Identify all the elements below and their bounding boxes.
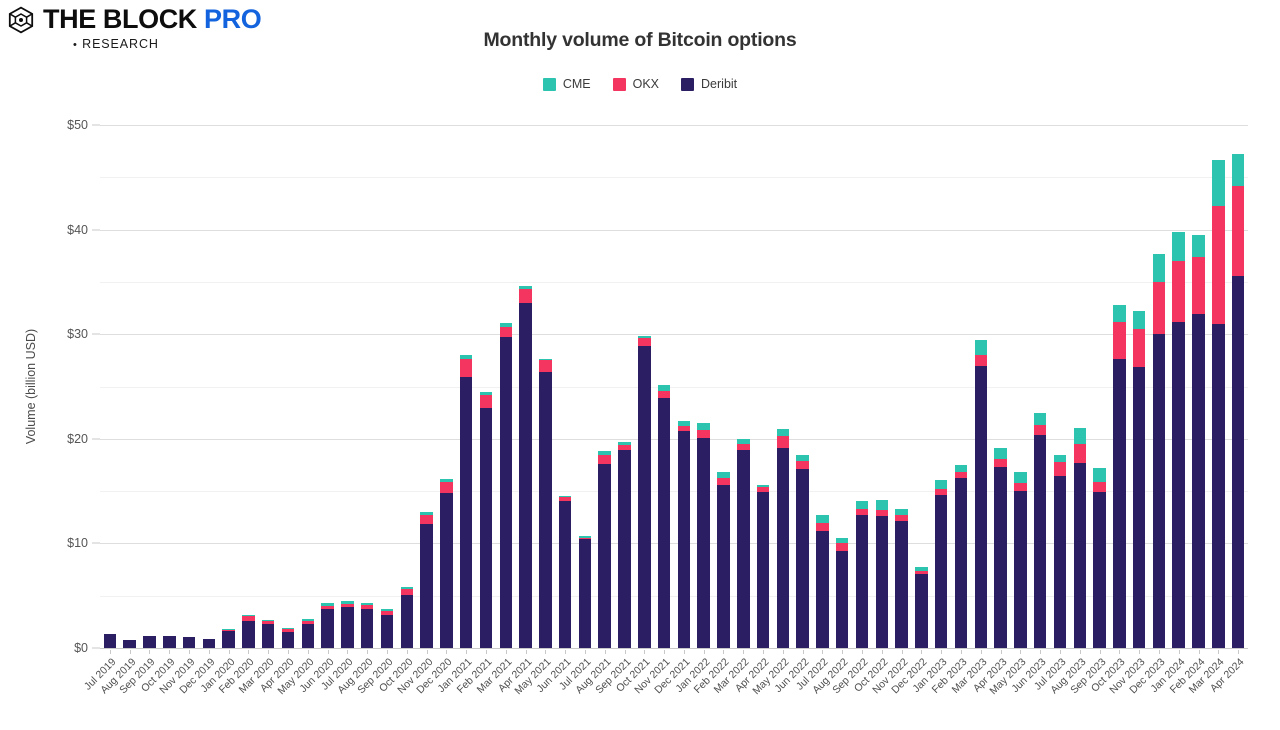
bar-segment-okx xyxy=(994,459,1006,467)
bar-column[interactable] xyxy=(856,501,868,648)
bar-column[interactable] xyxy=(302,619,314,648)
bar-segment-deribit xyxy=(975,366,987,648)
bar-segment-deribit xyxy=(1113,359,1125,648)
bar-segment-deribit xyxy=(143,636,155,648)
x-tick-mark xyxy=(941,650,942,654)
legend-item-cme[interactable]: CME xyxy=(543,77,591,91)
bar-column[interactable] xyxy=(1113,305,1125,648)
x-tick-mark xyxy=(407,650,408,654)
bar-column[interactable] xyxy=(143,636,155,648)
bar-segment-cme xyxy=(816,515,828,523)
bar-segment-okx xyxy=(598,455,610,464)
x-tick-mark xyxy=(1119,650,1120,654)
bar-column[interactable] xyxy=(183,637,195,648)
x-tick-mark xyxy=(882,650,883,654)
bar-segment-deribit xyxy=(242,621,254,648)
bar-segment-cme xyxy=(697,423,709,430)
bar-segment-okx xyxy=(519,289,531,303)
bar-segment-deribit xyxy=(559,501,571,648)
y-tick-mark xyxy=(92,125,100,126)
y-tick-mark xyxy=(92,543,100,544)
x-tick-mark xyxy=(308,650,309,654)
bar-segment-okx xyxy=(638,338,650,345)
x-tick-mark xyxy=(328,650,329,654)
bar-segment-okx xyxy=(1133,329,1145,367)
bar-column[interactable] xyxy=(915,567,927,648)
bar-segment-deribit xyxy=(1093,492,1105,648)
bar-column[interactable] xyxy=(1054,455,1066,648)
y-tick-label: $40 xyxy=(67,223,88,237)
bar-column[interactable] xyxy=(1192,235,1204,648)
x-tick-mark xyxy=(1060,650,1061,654)
bar-segment-deribit xyxy=(420,524,432,648)
legend-label-okx: OKX xyxy=(633,77,659,91)
x-tick-mark xyxy=(486,650,487,654)
x-tick-mark xyxy=(1159,650,1160,654)
bar-segment-deribit xyxy=(440,493,452,648)
x-tick-mark xyxy=(169,650,170,654)
y-tick-mark xyxy=(92,229,100,230)
bar-segment-deribit xyxy=(777,448,789,648)
bar-segment-okx xyxy=(1074,444,1086,463)
x-tick-mark xyxy=(862,650,863,654)
x-tick-mark xyxy=(1040,650,1041,654)
bar-column[interactable] xyxy=(955,465,967,648)
x-tick-mark xyxy=(526,650,527,654)
bar-column[interactable] xyxy=(321,603,333,648)
bar-segment-deribit xyxy=(381,615,393,648)
x-tick-mark xyxy=(1139,650,1140,654)
x-baseline xyxy=(100,648,1248,649)
y-tick-mark xyxy=(92,648,100,649)
y-tick-label: $20 xyxy=(67,432,88,446)
bar-segment-okx xyxy=(975,355,987,365)
x-tick-mark xyxy=(961,650,962,654)
bar-segment-deribit xyxy=(816,531,828,648)
bar-segment-deribit xyxy=(183,637,195,648)
bar-segment-okx xyxy=(658,391,670,398)
chart-legend: CMEOKXDeribit xyxy=(0,77,1280,91)
bar-segment-cme xyxy=(955,465,967,472)
bar-segment-deribit xyxy=(500,337,512,648)
bar-segment-deribit xyxy=(618,450,630,648)
legend-swatch-deribit xyxy=(681,78,694,91)
bar-segment-deribit xyxy=(856,515,868,648)
bar-segment-cme xyxy=(1192,235,1204,257)
x-tick-mark xyxy=(723,650,724,654)
x-tick-mark xyxy=(466,650,467,654)
bar-column[interactable] xyxy=(420,512,432,648)
x-tick-mark xyxy=(149,650,150,654)
bar-segment-deribit xyxy=(480,408,492,648)
bar-column[interactable] xyxy=(717,472,729,648)
bar-segment-deribit xyxy=(915,574,927,648)
bar-segment-okx xyxy=(480,395,492,409)
bar-column[interactable] xyxy=(123,640,135,648)
bar-column[interactable] xyxy=(658,385,670,648)
bar-column[interactable] xyxy=(816,515,828,648)
legend-swatch-okx xyxy=(613,78,626,91)
bar-column[interactable] xyxy=(401,587,413,648)
bar-segment-deribit xyxy=(697,438,709,648)
bar-column[interactable] xyxy=(1133,311,1145,648)
x-tick-mark xyxy=(347,650,348,654)
bar-segment-deribit xyxy=(836,551,848,648)
bar-segment-okx xyxy=(1113,322,1125,360)
x-tick-mark xyxy=(644,650,645,654)
bar-column[interactable] xyxy=(163,636,175,648)
bar-segment-cme xyxy=(1034,413,1046,425)
x-tick-mark xyxy=(387,650,388,654)
bar-segment-deribit xyxy=(895,521,907,648)
y-axis-label: Volume (billion USD) xyxy=(24,125,44,648)
bar-segment-deribit xyxy=(539,372,551,648)
bar-segment-deribit xyxy=(658,398,670,648)
x-tick-mark xyxy=(1199,650,1200,654)
bar-segment-deribit xyxy=(1034,435,1046,648)
bar-segment-deribit xyxy=(757,492,769,648)
bar-column[interactable] xyxy=(539,359,551,648)
chart-title: Monthly volume of Bitcoin options xyxy=(0,29,1280,52)
x-tick-mark xyxy=(268,650,269,654)
bar-segment-cme xyxy=(1074,428,1086,444)
bar-column[interactable] xyxy=(1212,160,1224,648)
bar-segment-okx xyxy=(1014,483,1026,491)
bar-column[interactable] xyxy=(876,500,888,648)
x-tick-mark xyxy=(1001,650,1002,654)
bar-segment-deribit xyxy=(876,516,888,648)
bar-segment-deribit xyxy=(1054,476,1066,648)
chart-page: THE BLOCK PRO • RESEARCH Monthly volume … xyxy=(0,0,1280,730)
x-tick-mark xyxy=(1238,650,1239,654)
x-tick-mark xyxy=(921,650,922,654)
bar-segment-deribit xyxy=(717,485,729,648)
bar-segment-okx xyxy=(1054,462,1066,477)
y-tick-mark xyxy=(92,334,100,335)
bar-segment-cme xyxy=(1212,160,1224,206)
bar-column[interactable] xyxy=(262,620,274,648)
y-tick-label: $30 xyxy=(67,327,88,341)
x-tick-mark xyxy=(664,650,665,654)
x-tick-mark xyxy=(130,650,131,654)
x-tick-mark xyxy=(209,650,210,654)
x-tick-mark xyxy=(842,650,843,654)
x-tick-mark xyxy=(704,650,705,654)
x-tick-mark xyxy=(1080,650,1081,654)
x-tick-mark xyxy=(545,650,546,654)
x-tick-mark xyxy=(605,650,606,654)
bar-column[interactable] xyxy=(222,629,234,648)
bar-column[interactable] xyxy=(697,423,709,648)
bar-segment-cme xyxy=(1054,455,1066,462)
bar-column[interactable] xyxy=(242,615,254,648)
bar-column[interactable] xyxy=(579,536,591,648)
bar-column[interactable] xyxy=(994,448,1006,648)
bar-segment-deribit xyxy=(1232,276,1244,648)
x-axis: Jul 2019Aug 2019Sep 2019Oct 2019Nov 2019… xyxy=(100,650,1248,730)
x-tick-mark xyxy=(1020,650,1021,654)
bar-segment-deribit xyxy=(203,639,215,648)
bar-column[interactable] xyxy=(975,340,987,648)
x-tick-mark xyxy=(981,650,982,654)
x-tick-mark xyxy=(743,650,744,654)
x-tick-mark xyxy=(110,650,111,654)
bar-segment-deribit xyxy=(1074,463,1086,648)
bar-segment-okx xyxy=(1172,261,1184,322)
legend-label-cme: CME xyxy=(563,77,591,91)
bar-column[interactable] xyxy=(1172,232,1184,648)
x-tick-mark xyxy=(229,650,230,654)
x-tick-mark xyxy=(565,650,566,654)
x-tick-mark xyxy=(902,650,903,654)
x-tick-mark xyxy=(783,650,784,654)
bar-segment-okx xyxy=(539,360,551,372)
bar-segment-cme xyxy=(876,500,888,510)
bar-column[interactable] xyxy=(1014,472,1026,648)
x-tick-mark xyxy=(1218,650,1219,654)
y-tick-label: $50 xyxy=(67,118,88,132)
bar-segment-deribit xyxy=(1172,322,1184,648)
y-axis: $0$10$20$30$40$50 xyxy=(0,125,100,648)
bar-segment-cme xyxy=(1014,472,1026,482)
bar-segment-deribit xyxy=(123,640,135,648)
x-tick-mark xyxy=(367,650,368,654)
bar-segment-okx xyxy=(1093,482,1105,492)
bar-segment-deribit xyxy=(955,478,967,648)
bar-segment-deribit xyxy=(796,469,808,648)
bar-segment-deribit xyxy=(1133,367,1145,648)
bar-segment-deribit xyxy=(598,464,610,648)
x-tick-mark xyxy=(506,650,507,654)
bar-segment-deribit xyxy=(361,609,373,648)
x-tick-mark xyxy=(446,650,447,654)
bar-column[interactable] xyxy=(1232,154,1244,648)
bar-segment-deribit xyxy=(302,624,314,648)
bar-segment-deribit xyxy=(262,624,274,648)
bar-column[interactable] xyxy=(895,509,907,648)
bar-segment-okx xyxy=(717,478,729,485)
bar-segment-deribit xyxy=(401,595,413,648)
bar-column[interactable] xyxy=(440,479,452,648)
bar-column[interactable] xyxy=(559,496,571,648)
bar-segment-okx xyxy=(1192,257,1204,315)
bar-segment-cme xyxy=(935,480,947,489)
bar-column[interactable] xyxy=(1093,468,1105,648)
bar-segment-cme xyxy=(1153,254,1165,282)
bar-segment-deribit xyxy=(222,631,234,648)
bar-column[interactable] xyxy=(104,634,116,648)
bar-segment-okx xyxy=(737,444,749,451)
legend-item-okx[interactable]: OKX xyxy=(613,77,659,91)
bar-segment-deribit xyxy=(737,450,749,648)
bar-segment-cme xyxy=(994,448,1006,459)
bar-column[interactable] xyxy=(1074,428,1086,648)
bar-segment-okx xyxy=(1232,186,1244,276)
bar-column[interactable] xyxy=(480,392,492,648)
y-tick-mark xyxy=(92,438,100,439)
bar-column[interactable] xyxy=(500,323,512,648)
bar-column[interactable] xyxy=(757,485,769,648)
bar-column[interactable] xyxy=(598,451,610,648)
x-tick-mark xyxy=(625,650,626,654)
bar-segment-deribit xyxy=(1014,491,1026,648)
x-tick-mark xyxy=(427,650,428,654)
bar-segment-deribit xyxy=(1153,334,1165,648)
bar-segment-okx xyxy=(420,515,432,523)
bar-segment-deribit xyxy=(321,609,333,648)
bar-segment-okx xyxy=(440,482,452,494)
bar-segment-deribit xyxy=(341,607,353,648)
bar-segment-deribit xyxy=(935,495,947,648)
bar-segment-okx xyxy=(816,523,828,531)
bar-column[interactable] xyxy=(638,336,650,648)
bar-segment-okx xyxy=(1153,282,1165,334)
bar-column[interactable] xyxy=(519,286,531,648)
bar-segment-okx xyxy=(697,430,709,438)
bar-segment-cme xyxy=(1232,154,1244,185)
bar-segment-okx xyxy=(777,436,789,449)
bar-segment-deribit xyxy=(994,467,1006,648)
bar-segment-cme xyxy=(975,340,987,355)
bar-column[interactable] xyxy=(203,639,215,648)
legend-item-deribit[interactable]: Deribit xyxy=(681,77,737,91)
bar-segment-okx xyxy=(1212,206,1224,324)
bar-segment-deribit xyxy=(1212,324,1224,648)
bar-column[interactable] xyxy=(836,538,848,648)
bar-segment-cme xyxy=(1133,311,1145,329)
bar-segment-cme xyxy=(1093,468,1105,482)
bar-segment-okx xyxy=(836,543,848,550)
bar-segment-deribit xyxy=(460,377,472,648)
bar-segment-cme xyxy=(856,501,868,509)
bar-column[interactable] xyxy=(1153,254,1165,648)
x-tick-mark xyxy=(248,650,249,654)
y-tick-label: $10 xyxy=(67,536,88,550)
bar-segment-okx xyxy=(935,489,947,496)
bar-column[interactable] xyxy=(1034,413,1046,648)
bar-segment-deribit xyxy=(519,303,531,648)
bar-segment-cme xyxy=(1113,305,1125,322)
bar-column[interactable] xyxy=(361,603,373,648)
x-tick-mark xyxy=(684,650,685,654)
bar-column[interactable] xyxy=(777,429,789,648)
bar-column[interactable] xyxy=(935,480,947,648)
y-tick-label: $0 xyxy=(74,641,88,655)
bar-column[interactable] xyxy=(460,355,472,648)
x-tick-mark xyxy=(585,650,586,654)
bar-segment-deribit xyxy=(104,634,116,648)
bar-segment-deribit xyxy=(282,632,294,648)
bar-series-container xyxy=(100,125,1248,648)
bar-column[interactable] xyxy=(796,455,808,648)
x-tick-mark xyxy=(803,650,804,654)
x-tick-mark xyxy=(1179,650,1180,654)
legend-label-deribit: Deribit xyxy=(701,77,737,91)
bar-segment-deribit xyxy=(678,431,690,648)
x-tick-mark xyxy=(288,650,289,654)
bar-segment-deribit xyxy=(638,346,650,648)
x-tick-mark xyxy=(1100,650,1101,654)
bar-column[interactable] xyxy=(282,628,294,648)
x-tick-mark xyxy=(189,650,190,654)
bar-column[interactable] xyxy=(678,421,690,648)
x-tick-mark xyxy=(763,650,764,654)
bar-segment-okx xyxy=(500,327,512,337)
bar-segment-deribit xyxy=(579,539,591,648)
bar-segment-deribit xyxy=(163,636,175,648)
bar-segment-okx xyxy=(796,461,808,469)
x-tick-mark xyxy=(822,650,823,654)
bar-segment-okx xyxy=(1034,425,1046,435)
bar-column[interactable] xyxy=(381,609,393,648)
bar-segment-deribit xyxy=(1192,314,1204,648)
bar-column[interactable] xyxy=(618,442,630,648)
bar-segment-cme xyxy=(1172,232,1184,261)
bar-column[interactable] xyxy=(737,439,749,648)
bar-column[interactable] xyxy=(341,601,353,648)
legend-swatch-cme xyxy=(543,78,556,91)
bar-segment-okx xyxy=(460,359,472,377)
